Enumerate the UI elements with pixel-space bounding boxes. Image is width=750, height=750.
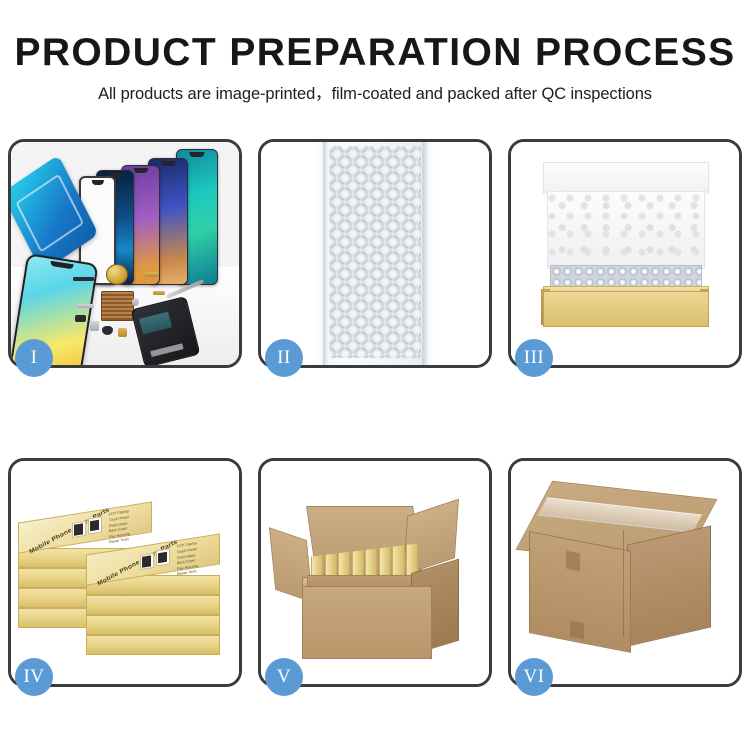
- camera-part: [102, 326, 113, 334]
- retail-box-top-left: Mobile Phone Spare Parts LCD Display Tou…: [18, 502, 152, 554]
- step-image-5: [261, 461, 489, 684]
- phone-thumbnail: [88, 517, 102, 535]
- spare-parts-cluster: [70, 262, 189, 356]
- sim-tray-part: [90, 321, 98, 331]
- step-badge-5: V: [265, 658, 303, 696]
- sleeve-edge-right: [422, 142, 427, 365]
- battery-part: [118, 328, 127, 337]
- step-badge-6: VI: [515, 658, 553, 696]
- step-image-4: Mobile Phone Spare Parts LCD Display Tou…: [11, 461, 239, 684]
- box-checklist: LCD Display Touch Panel Front Glass Back…: [109, 510, 130, 547]
- chip-part: [75, 315, 86, 322]
- bubble-wrap-illustration: [261, 142, 489, 365]
- step-badge-2: II: [265, 339, 303, 377]
- phone-parts-illustration: [11, 142, 239, 365]
- page-subtitle: All products are image-printed，film-coat…: [0, 72, 750, 103]
- page-header: PRODUCT PREPARATION PROCESS All products…: [0, 0, 750, 103]
- notch-icon: [161, 161, 176, 166]
- mailer-box-illustration: [511, 142, 739, 365]
- step-panel-2[interactable]: II: [258, 139, 492, 368]
- carton-edge-seam: [623, 530, 625, 637]
- step-image-1: [11, 142, 239, 365]
- phone-thumbnail: [72, 521, 86, 539]
- step-panel-3[interactable]: III: [508, 139, 742, 368]
- open-carton-illustration: [261, 461, 489, 684]
- sleeve-edge-left: [323, 142, 328, 365]
- contact-part: [153, 291, 165, 296]
- tape-tab: [566, 551, 580, 571]
- connector-part: [144, 272, 159, 278]
- bubble-field-overlay: [329, 146, 420, 358]
- speaker-part: [106, 264, 128, 285]
- step-badge-4: IV: [15, 658, 53, 696]
- page-title: PRODUCT PREPARATION PROCESS: [0, 0, 750, 72]
- notch-icon: [134, 168, 148, 173]
- foam-padding: [547, 191, 704, 269]
- button-part: [132, 298, 139, 306]
- phone-thumbnail: [140, 553, 154, 571]
- step-image-2: [261, 142, 489, 365]
- tape-tab: [570, 620, 584, 638]
- step-badge-3: III: [515, 339, 553, 377]
- step-panel-5[interactable]: V: [258, 458, 492, 687]
- notch-icon: [189, 152, 204, 157]
- flex-cable-part: [73, 277, 94, 281]
- screen-icon: [158, 551, 167, 563]
- process-steps-grid: I II: [8, 139, 742, 687]
- step-badge-1: I: [15, 339, 53, 377]
- carton-front-panel: [302, 586, 432, 659]
- box-front-panel: [543, 291, 709, 326]
- screen-icon: [143, 555, 152, 567]
- notch-icon: [91, 180, 103, 185]
- step-image-3: [511, 142, 739, 365]
- mesh-part: [101, 291, 134, 321]
- retail-box-stacked: [86, 595, 220, 615]
- screen-icon: [74, 524, 83, 536]
- step-panel-6[interactable]: VI: [508, 458, 742, 687]
- carton-side-panel: [627, 525, 711, 647]
- step-panel-1[interactable]: I: [8, 139, 242, 368]
- bracket-part: [77, 304, 94, 309]
- box-checklist: LCD Display Touch Panel Front Glass Back…: [177, 541, 198, 578]
- box-lid: [543, 162, 709, 194]
- retail-box-stack-illustration: Mobile Phone Spare Parts LCD Display Tou…: [11, 461, 239, 684]
- step-image-6: [511, 461, 739, 684]
- step-panel-4[interactable]: Mobile Phone Spare Parts LCD Display Tou…: [8, 458, 242, 687]
- screen-icon: [90, 520, 99, 532]
- retail-box-stacked: [86, 615, 220, 635]
- retail-box-stacked: [86, 635, 220, 655]
- sealed-carton-illustration: [511, 461, 739, 684]
- phone-thumbnail: [156, 548, 170, 566]
